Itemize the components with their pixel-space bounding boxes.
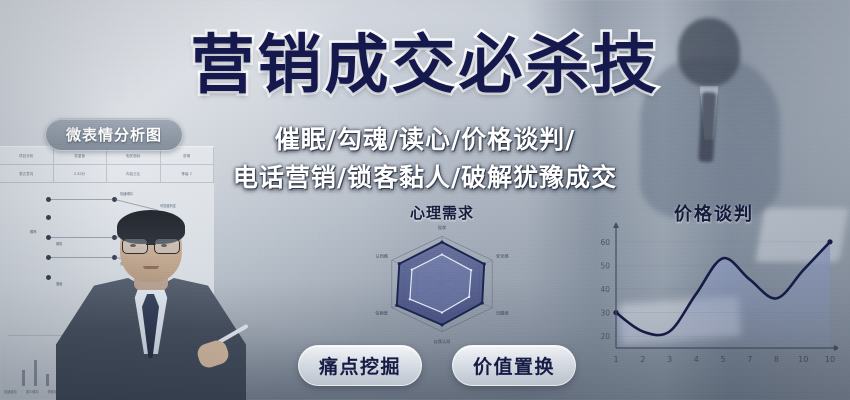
page-title: 营销成交必杀技 xyxy=(0,34,850,98)
legend-item: 情绪波动 xyxy=(4,389,17,394)
svg-text:7: 7 xyxy=(747,355,752,364)
presenter-portrait xyxy=(56,212,246,400)
svg-text:信赖度: 信赖度 xyxy=(375,310,388,317)
svg-text:1: 1 xyxy=(613,355,618,364)
glasses-icon xyxy=(122,238,180,253)
svg-text:60: 60 xyxy=(600,238,610,247)
legend-item: 语义倾向 xyxy=(26,389,39,394)
radar-chart: 心理需求 现状安全感归属感自我认同信赖度认同感 xyxy=(336,202,548,360)
svg-text:8: 8 xyxy=(774,355,779,364)
line-chart: 价格谈判 605040302012345781010 xyxy=(586,200,842,386)
map-connector xyxy=(115,199,158,211)
value-exchange-pill-button[interactable]: 价值置换 xyxy=(452,345,576,386)
svg-text:50: 50 xyxy=(600,261,610,270)
bar xyxy=(22,370,25,386)
svg-text:自我认同: 自我认同 xyxy=(434,338,451,345)
svg-text:10: 10 xyxy=(825,355,835,364)
svg-text:安全感: 安全感 xyxy=(496,252,509,259)
svg-text:10: 10 xyxy=(798,355,808,364)
map-branch-label: 可信度判定 xyxy=(160,203,176,208)
line-chart-svg: 605040302012345781010 xyxy=(586,222,838,382)
map-node-label: 眼神 xyxy=(30,229,36,234)
svg-text:3: 3 xyxy=(667,355,672,364)
svg-text:40: 40 xyxy=(600,285,610,294)
svg-text:归属感: 归属感 xyxy=(496,310,509,317)
map-node xyxy=(46,275,51,280)
presenter-mouth xyxy=(143,266,159,269)
svg-text:4: 4 xyxy=(694,355,699,364)
svg-text:20: 20 xyxy=(600,332,610,341)
svg-text:5: 5 xyxy=(720,355,725,364)
subtitle-line-1: 催眠/勾魂/读心/价格谈判/ xyxy=(0,120,850,156)
subtitle-line-2: 电话营销/锁客黏人/破解犹豫成交 xyxy=(0,158,850,194)
map-node xyxy=(46,215,51,220)
pain-point-pill-button[interactable]: 痛点挖掘 xyxy=(298,345,422,386)
bar xyxy=(46,374,49,386)
svg-text:30: 30 xyxy=(600,309,610,318)
svg-text:2: 2 xyxy=(640,355,645,364)
bar xyxy=(34,360,37,386)
svg-text:认同感: 认同感 xyxy=(375,252,388,259)
radar-chart-svg: 现状安全感归属感自我认同信赖度认同感 xyxy=(336,218,548,358)
map-connector xyxy=(51,199,113,200)
svg-text:现状: 现状 xyxy=(438,224,447,231)
marketing-course-banner: 项目分析 权重值 相关指标 说明 表达意向 0.82分 内容占比 等级 2 xyxy=(0,0,850,400)
